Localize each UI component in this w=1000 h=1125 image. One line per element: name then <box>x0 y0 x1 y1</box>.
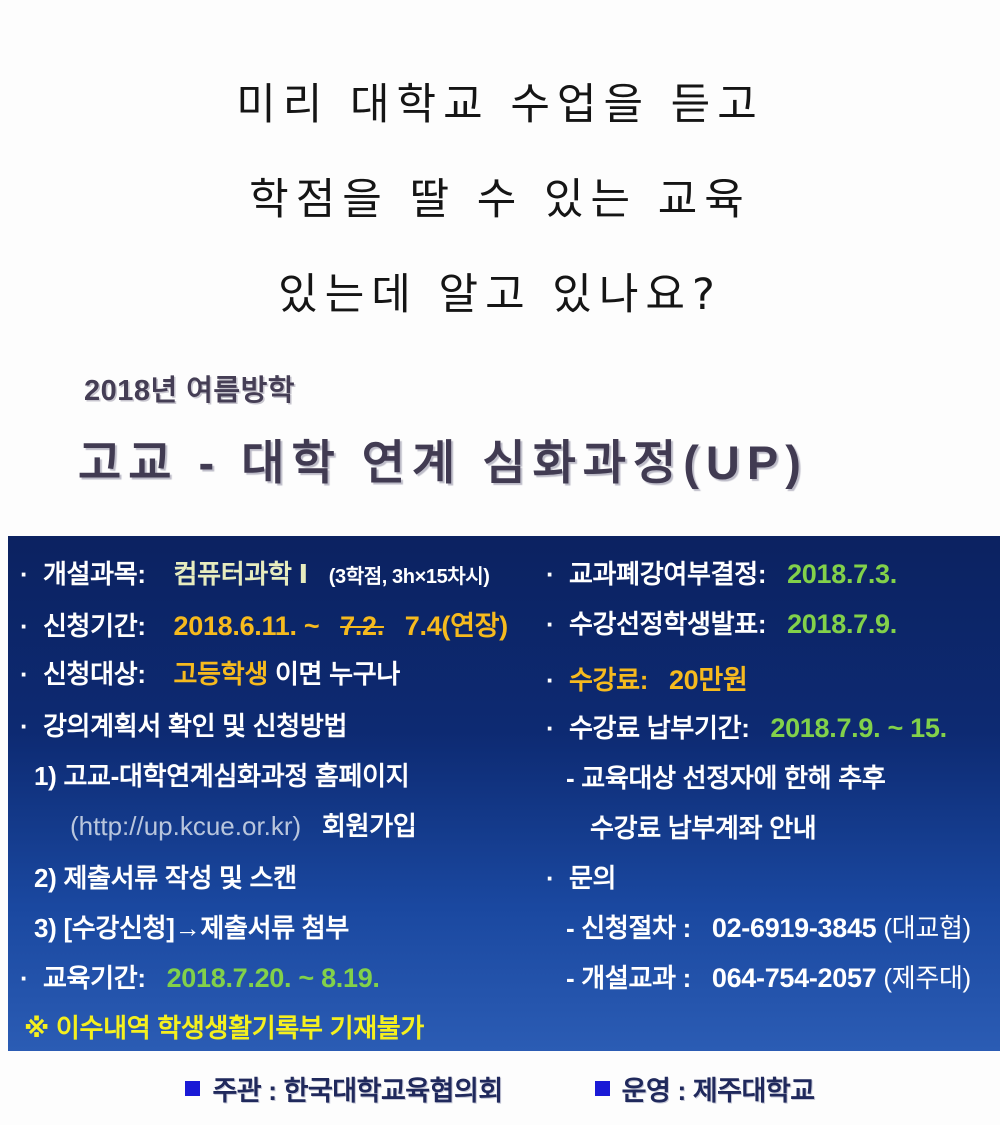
row-target: 신청대상: 고등학생 이면 누구나 <box>20 654 400 691</box>
course-label: 개설과목: <box>43 559 146 589</box>
payment-note-line1: - 교육대상 선정자에 한해 추후 <box>566 763 886 793</box>
row-contact-heading: 문의 <box>546 858 616 895</box>
headline-block: 미리 대학교 수업을 듣고 학점을 딸 수 있는 교육 있는데 알고 있나요? <box>0 58 1000 343</box>
target-label: 신청대상: <box>43 659 146 689</box>
row-step3: 3) [수강신청]→제출서류 첨부 <box>34 908 349 945</box>
selection-announce-label: 수강선정학생발표: <box>569 609 766 639</box>
apply-period-extended: 7.4(연장) <box>405 611 508 641</box>
step1-label: 1) 고교-대학연계심화과정 홈페이지 <box>34 761 409 791</box>
row-howto-heading: 강의계획서 확인 및 신청방법 <box>20 706 347 743</box>
row-contact-2: - 개설교과 : 064-754-2057 (제주대) <box>566 958 971 995</box>
contact1-label: - 신청절차 : <box>566 913 691 943</box>
footer-host: 주관 : 한국대학교육협의회 <box>185 1069 502 1108</box>
row-tuition: 수강료: 20만원 <box>546 658 747 697</box>
row-apply-period: 신청기간: 2018.6.11. ~ 7.2. 7.4(연장) <box>20 604 508 643</box>
course-detail: (3학점, 3h×15차시) <box>329 566 490 588</box>
square-bullet-icon <box>185 1081 200 1096</box>
square-bullet-icon <box>595 1081 610 1096</box>
contact2-org: (제주대) <box>883 963 971 993</box>
homepage-url-link[interactable]: (http://up.kcue.or.kr) <box>70 811 301 841</box>
subtitle-year: 2018년 여름방학 <box>84 367 295 409</box>
row-notice: ※ 이수내역 학생생활기록부 기재불가 <box>24 1008 424 1045</box>
contact1-phone-number[interactable]: 02-6919-3845 <box>712 913 877 943</box>
info-right-column: 교과폐강여부결정: 2018.7.3. 수강선정학생발표: 2018.7.9. … <box>546 536 998 1051</box>
contact2-label: - 개설교과 : <box>566 963 691 993</box>
row-step2: 2) 제출서류 작성 및 스캔 <box>34 858 297 895</box>
target-highlight: 고등학생 <box>174 659 268 689</box>
cancel-decision-label: 교과폐강여부결정: <box>569 559 766 589</box>
footer-operator: 운영 : 제주대학교 <box>595 1069 815 1108</box>
notice-text: ※ 이수내역 학생생활기록부 기재불가 <box>24 1013 424 1043</box>
apply-period-start: 2018.6.11. ~ <box>174 611 320 641</box>
row-payment-note-2: 수강료 납부계좌 안내 <box>590 808 816 845</box>
course-name: 컴퓨터과학 Ⅰ <box>174 559 308 589</box>
headline-line-2: 학점을 딸 수 있는 교육 <box>0 153 1000 248</box>
tuition-label: 수강료: <box>569 665 648 695</box>
target-rest: 이면 누구나 <box>275 659 400 689</box>
footer-operator-label: 운영 : 제주대학교 <box>622 1069 815 1108</box>
edu-period-label: 교육기간: <box>43 963 146 993</box>
footer-host-label: 주관 : 한국대학교육협의회 <box>212 1069 502 1108</box>
tuition-value: 20만원 <box>669 665 748 695</box>
row-edu-period: 교육기간: 2018.7.20. ~ 8.19. <box>20 958 380 995</box>
row-step1-url[interactable]: (http://up.kcue.or.kr) 회원가입 <box>70 806 417 843</box>
selection-announce-value: 2018.7.9. <box>787 609 897 639</box>
cancel-decision-value: 2018.7.3. <box>787 559 897 589</box>
footer: 주관 : 한국대학교육협의회 운영 : 제주대학교 <box>0 1069 1000 1108</box>
edu-period-value: 2018.7.20. ~ 8.19. <box>167 963 380 993</box>
contact-heading: 문의 <box>569 863 616 893</box>
step3-label: 3) [수강신청]→제출서류 첨부 <box>34 913 349 943</box>
headline-line-1: 미리 대학교 수업을 듣고 <box>0 58 1000 153</box>
row-selection-announce: 수강선정학생발표: 2018.7.9. <box>546 604 897 641</box>
page-title: 고교 - 대학 연계 심화과정(UP) <box>78 424 808 493</box>
payment-note-line2: 수강료 납부계좌 안내 <box>590 813 816 843</box>
info-panel: 개설과목: 컴퓨터과학 Ⅰ (3학점, 3h×15차시) 신청기간: 2018.… <box>8 536 1000 1051</box>
headline-line-3: 있는데 알고 있나요? <box>0 248 1000 343</box>
row-step1: 1) 고교-대학연계심화과정 홈페이지 <box>34 756 409 793</box>
contact2-phone-number[interactable]: 064-754-2057 <box>712 963 877 993</box>
payment-period-value: 2018.7.9. ~ 15. <box>770 713 946 743</box>
row-course: 개설과목: 컴퓨터과학 Ⅰ (3학점, 3h×15차시) <box>20 554 490 591</box>
step2-label: 2) 제출서류 작성 및 스캔 <box>34 863 297 893</box>
info-left-column: 개설과목: 컴퓨터과학 Ⅰ (3학점, 3h×15차시) 신청기간: 2018.… <box>20 536 540 1051</box>
row-payment-period: 수강료 납부기간: 2018.7.9. ~ 15. <box>546 708 947 745</box>
row-cancel-decision: 교과폐강여부결정: 2018.7.3. <box>546 554 897 591</box>
apply-period-struck: 7.2. <box>340 611 384 641</box>
apply-period-label: 신청기간: <box>43 611 146 641</box>
row-contact-1: - 신청절차 : 02-6919-3845 (대교협) <box>566 908 971 945</box>
row-payment-note-1: - 교육대상 선정자에 한해 추후 <box>566 758 886 795</box>
contact1-org: (대교협) <box>883 913 971 943</box>
step1-url-suffix: 회원가입 <box>322 811 416 841</box>
howto-heading: 강의계획서 확인 및 신청방법 <box>43 711 347 741</box>
payment-period-label: 수강료 납부기간: <box>569 713 750 743</box>
